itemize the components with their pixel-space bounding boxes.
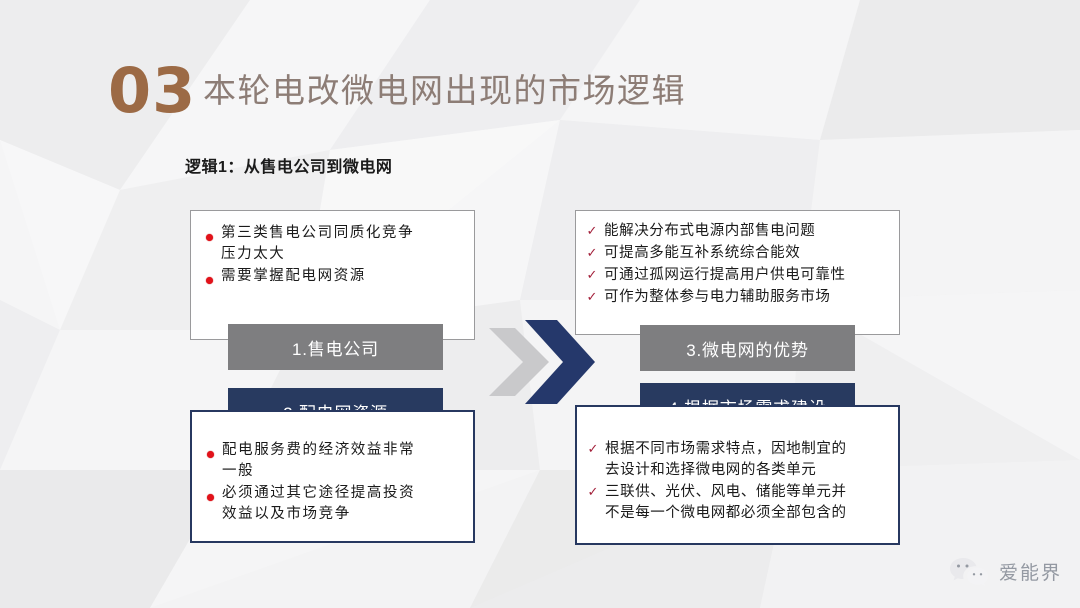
bullet-line: 一般 xyxy=(222,463,254,479)
list-item: ✓ 可提高多能互补系统综合能效 xyxy=(580,243,893,264)
bullet-line: 第三类售电公司同质化竞争 xyxy=(221,225,414,241)
list-item: ✓ 根据不同市场需求特点，因地制宜的 去设计和选择微电网的各类单元 xyxy=(581,439,892,481)
list-item: 第三类售电公司同质化竞争 压力太大 xyxy=(197,223,464,265)
bullet-line: 需要掌握配电网资源 xyxy=(221,266,464,287)
step-bar-3-label: 3.微电网的优势 xyxy=(686,336,809,361)
section-number: 03 xyxy=(108,60,196,122)
bullet-dot-icon xyxy=(198,440,222,463)
right-bottom-panel: ✓ 根据不同市场需求特点，因地制宜的 去设计和选择微电网的各类单元 ✓ 三联供、… xyxy=(575,405,900,545)
list-item: ✓ 可作为整体参与电力辅助服务市场 xyxy=(580,287,893,308)
left-bottom-panel: 配电服务费的经济效益非常 一般 必须通过其它途径提高投资 效益以及市场竞争 xyxy=(190,410,475,543)
step-bar-1-label: 1.售电公司 xyxy=(292,335,379,360)
bullet-line: 三联供、光伏、风电、储能等单元并 xyxy=(605,484,847,500)
bullet-dot-icon xyxy=(197,266,221,289)
bullet-line: 效益以及市场竞争 xyxy=(222,506,351,522)
check-icon: ✓ xyxy=(580,287,604,307)
list-item: ✓ 可通过孤网运行提高用户供电可靠性 xyxy=(580,265,893,286)
bullet-line: 可作为整体参与电力辅助服务市场 xyxy=(604,287,893,308)
check-icon: ✓ xyxy=(580,243,604,263)
bullet-line: 配电服务费的经济效益非常 xyxy=(222,442,415,458)
list-item: ✓ 三联供、光伏、风电、储能等单元并 不是每一个微电网都必须全部包含的 xyxy=(581,482,892,524)
list-item: 配电服务费的经济效益非常 一般 xyxy=(198,440,465,482)
bullet-dot-icon xyxy=(197,223,221,246)
bullet-line: 压力太大 xyxy=(221,246,285,262)
check-icon: ✓ xyxy=(580,265,604,285)
step-bar-3[interactable]: 3.微电网的优势 xyxy=(640,325,855,371)
bullet-dot-icon xyxy=(198,483,222,506)
watermark: 爱能界 xyxy=(948,556,1062,586)
bullet-line: 根据不同市场需求特点，因地制宜的 xyxy=(605,441,847,457)
bullet-line: 可提高多能互补系统综合能效 xyxy=(604,243,893,264)
check-icon: ✓ xyxy=(581,482,605,502)
bullet-line: 不是每一个微电网都必须全部包含的 xyxy=(605,505,847,521)
bullet-line: 必须通过其它途径提高投资 xyxy=(222,485,415,501)
flow-arrow-icon xyxy=(487,312,597,412)
check-icon: ✓ xyxy=(581,439,605,459)
bullet-line: 能解决分布式电源内部售电问题 xyxy=(604,221,893,242)
list-item: ✓ 能解决分布式电源内部售电问题 xyxy=(580,221,893,242)
bullet-line: 去设计和选择微电网的各类单元 xyxy=(605,462,816,478)
list-item: 必须通过其它途径提高投资 效益以及市场竞争 xyxy=(198,483,465,525)
wechat-icon xyxy=(948,556,990,586)
logic-subtitle: 逻辑1：从售电公司到微电网 xyxy=(185,153,392,177)
right-top-panel: ✓ 能解决分布式电源内部售电问题 ✓ 可提高多能互补系统综合能效 ✓ 可通过孤网… xyxy=(575,210,900,335)
slide-header: 03 本轮电改微电网出现的市场逻辑 逻辑1：从售电公司到微电网 xyxy=(0,0,1080,150)
list-item: 需要掌握配电网资源 xyxy=(197,266,464,289)
page-title: 本轮电改微电网出现的市场逻辑 xyxy=(203,74,686,107)
left-top-panel: 第三类售电公司同质化竞争 压力太大 需要掌握配电网资源 xyxy=(190,210,475,340)
bullet-line: 可通过孤网运行提高用户供电可靠性 xyxy=(604,265,893,286)
watermark-label: 爱能界 xyxy=(999,558,1062,585)
step-bar-1[interactable]: 1.售电公司 xyxy=(228,324,443,370)
check-icon: ✓ xyxy=(580,221,604,241)
